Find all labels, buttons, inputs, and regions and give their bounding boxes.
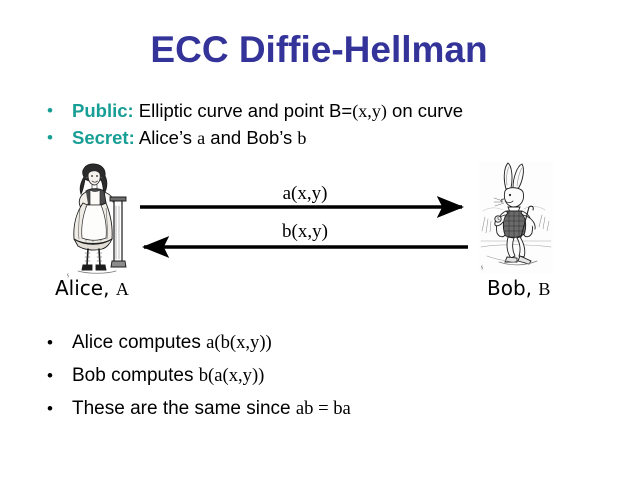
bullet-alice-computes: • Alice computes a(b(x,y)) xyxy=(47,326,351,359)
bullet-secret-body: Alice’s xyxy=(135,127,197,148)
bullet-same-since-math: ab = ba xyxy=(296,398,351,419)
bullet-alice-computes-math: a(b(x,y)) xyxy=(206,332,272,353)
computation-bullet-list: • Alice computes a(b(x,y)) • Bob compute… xyxy=(47,326,351,425)
alice-caption-symbol: A xyxy=(116,279,129,299)
bullet-alice-computes-body: Alice computes xyxy=(72,332,206,353)
alice-caption: Alice, A xyxy=(55,276,129,300)
alice-illustration-svg: § xyxy=(66,161,128,279)
bob-caption-symbol: B xyxy=(538,279,550,299)
alice-caption-name: Alice, xyxy=(55,276,109,300)
arrow-label-a-xy: a(x,y) xyxy=(205,183,405,205)
white-rabbit-illustration-svg: § xyxy=(479,161,553,273)
bullet-public-tail: on curve xyxy=(387,100,463,121)
bullet-same-since-text: These are the same since ab = ba xyxy=(47,392,351,425)
bullet-bob-computes-body: Bob computes xyxy=(72,365,199,386)
bullet-public-math: (x,y) xyxy=(352,101,387,121)
public-secret-bullet-list: • Public: Elliptic curve and point B=(x,… xyxy=(47,97,463,151)
bullet-public: • Public: Elliptic curve and point B=(x,… xyxy=(47,97,463,124)
svg-text:§: § xyxy=(481,265,483,270)
bullet-bob-computes-math: b(a(x,y)) xyxy=(199,365,265,386)
bob-caption-name: Bob, xyxy=(487,276,532,300)
bullet-secret-mid: and Bob’s xyxy=(205,127,297,148)
exchange-arrows xyxy=(130,155,478,265)
bullet-public-text: Public: Elliptic curve and point B=(x,y)… xyxy=(47,97,463,125)
bullet-secret-keyword: Secret: xyxy=(72,127,135,148)
bullet-dot-icon: • xyxy=(47,392,63,425)
bullet-same-since-body: These are the same since xyxy=(72,398,296,419)
bullet-bob-computes-text: Bob computes b(a(x,y)) xyxy=(47,359,264,392)
bullet-public-body: Elliptic curve and point B= xyxy=(134,100,353,121)
slide-canvas: ECC Diffie-Hellman • Public: Elliptic cu… xyxy=(0,0,638,479)
alice-illustration: § xyxy=(66,161,128,279)
bullet-secret-math-b: b xyxy=(297,128,306,148)
bullet-secret-math-a: a xyxy=(197,128,205,148)
page-title: ECC Diffie-Hellman xyxy=(0,30,638,71)
bullet-alice-computes-text: Alice computes a(b(x,y)) xyxy=(47,326,272,359)
bob-caption: Bob, B xyxy=(487,276,550,300)
bullet-secret-text: Secret: Alice’s a and Bob’s b xyxy=(47,124,306,152)
bullet-dot-icon: • xyxy=(47,97,63,124)
bullet-same-since: • These are the same since ab = ba xyxy=(47,392,351,425)
bullet-dot-icon: • xyxy=(47,124,63,151)
bullet-secret: • Secret: Alice’s a and Bob’s b xyxy=(47,124,463,151)
white-rabbit-illustration: § xyxy=(479,161,553,273)
bullet-bob-computes: • Bob computes b(a(x,y)) xyxy=(47,359,351,392)
arrow-label-b-xy: b(x,y) xyxy=(205,221,405,243)
bullet-dot-icon: • xyxy=(47,326,63,359)
bullet-public-keyword: Public: xyxy=(72,100,134,121)
bullet-dot-icon: • xyxy=(47,359,63,392)
